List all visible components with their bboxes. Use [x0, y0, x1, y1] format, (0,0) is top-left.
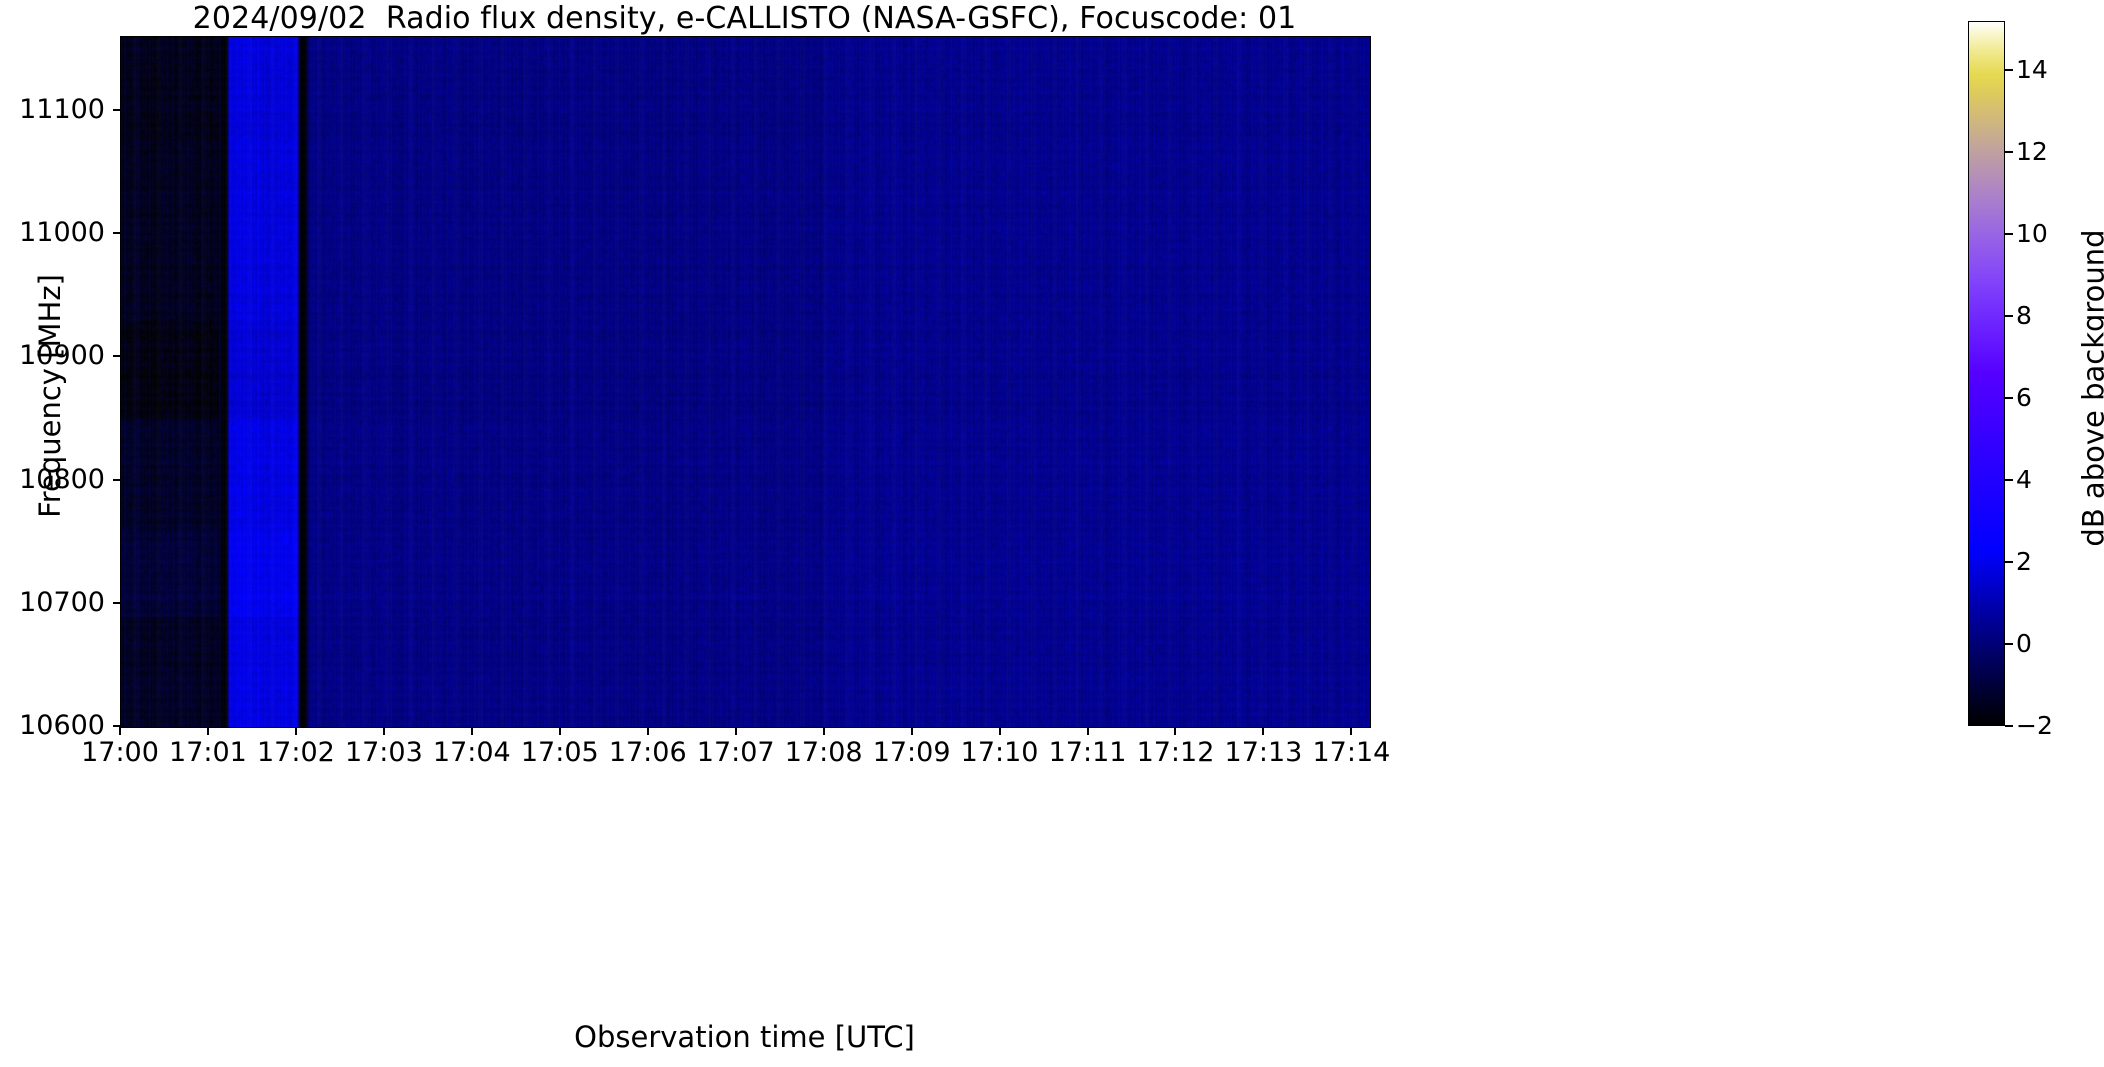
x-tick-label: 17:06: [600, 738, 696, 768]
colorbar-tick-label: 8: [2016, 303, 2032, 328]
spectrogram-image: [121, 37, 1370, 727]
colorbar-tick-mark: [2005, 725, 2013, 727]
x-tick-label: 17:04: [424, 738, 520, 768]
colorbar-tick-label: 12: [2016, 139, 2048, 164]
spectrogram-canvas: [121, 37, 1370, 727]
colorbar-tick-mark: [2005, 643, 2013, 645]
x-tick-label: 17:10: [952, 738, 1048, 768]
x-tick-mark: [383, 727, 385, 735]
x-tick-mark: [207, 727, 209, 735]
x-tick-mark: [823, 727, 825, 735]
x-tick-label: 17:03: [336, 738, 432, 768]
y-tick-mark: [113, 355, 120, 357]
colorbar-tick-label: 14: [2016, 57, 2048, 82]
x-tick-label: 17:00: [72, 738, 168, 768]
y-tick-mark: [113, 602, 120, 604]
colorbar-tick-label: 10: [2016, 221, 2048, 246]
x-axis-label: Observation time [UTC]: [120, 1020, 1369, 1054]
spectrogram-figure: 2024/09/02 Radio flux density, e-CALLIST…: [0, 0, 2104, 1067]
colorbar-tick-mark: [2005, 69, 2013, 71]
spectrogram-axes[interactable]: [120, 36, 1371, 728]
x-tick-mark: [647, 727, 649, 735]
x-tick-label: 17:09: [864, 738, 960, 768]
colorbar-tick-mark: [2005, 479, 2013, 481]
x-tick-mark: [1174, 727, 1176, 735]
y-tick-mark: [113, 109, 120, 111]
x-tick-mark: [735, 727, 737, 735]
y-tick-mark: [113, 479, 120, 481]
x-tick-mark: [999, 727, 1001, 735]
x-tick-mark: [911, 727, 913, 735]
x-tick-label: 17:08: [776, 738, 872, 768]
colorbar-tick-mark: [2005, 151, 2013, 153]
x-tick-mark: [295, 727, 297, 735]
x-tick-mark: [1350, 727, 1352, 735]
x-tick-label: 17:11: [1040, 738, 1136, 768]
page-title: 2024/09/02 Radio flux density, e-CALLIST…: [120, 2, 1369, 36]
x-tick-label: 17:05: [512, 738, 608, 768]
colorbar-tick-label: 2: [2016, 549, 2032, 574]
colorbar-tick-mark: [2005, 315, 2013, 317]
x-tick-label: 17:13: [1215, 738, 1311, 768]
x-tick-mark: [1262, 727, 1264, 735]
colorbar-gradient: [1968, 21, 2005, 726]
y-tick-mark: [113, 232, 120, 234]
x-tick-label: 17:12: [1127, 738, 1223, 768]
colorbar-tick-label: 0: [2016, 631, 2032, 656]
colorbar-tick-label: 4: [2016, 467, 2032, 492]
x-tick-mark: [119, 727, 121, 735]
colorbar-tick-label: −2: [2016, 713, 2053, 738]
x-tick-mark: [1087, 727, 1089, 735]
colorbar-tick-mark: [2005, 397, 2013, 399]
colorbar-tick-label: 6: [2016, 385, 2032, 410]
x-tick-label: 17:07: [688, 738, 784, 768]
x-tick-label: 17:02: [248, 738, 344, 768]
x-tick-label: 17:14: [1303, 738, 1399, 768]
colorbar-label: dB above background: [2079, 36, 2104, 741]
colorbar[interactable]: −202468101214: [1968, 21, 2005, 726]
colorbar-tick-mark: [2005, 233, 2013, 235]
x-tick-label: 17:01: [160, 738, 256, 768]
x-tick-mark: [559, 727, 561, 735]
colorbar-tick-mark: [2005, 561, 2013, 563]
y-axis-label: Frequency [MHz]: [35, 51, 65, 741]
x-tick-mark: [471, 727, 473, 735]
